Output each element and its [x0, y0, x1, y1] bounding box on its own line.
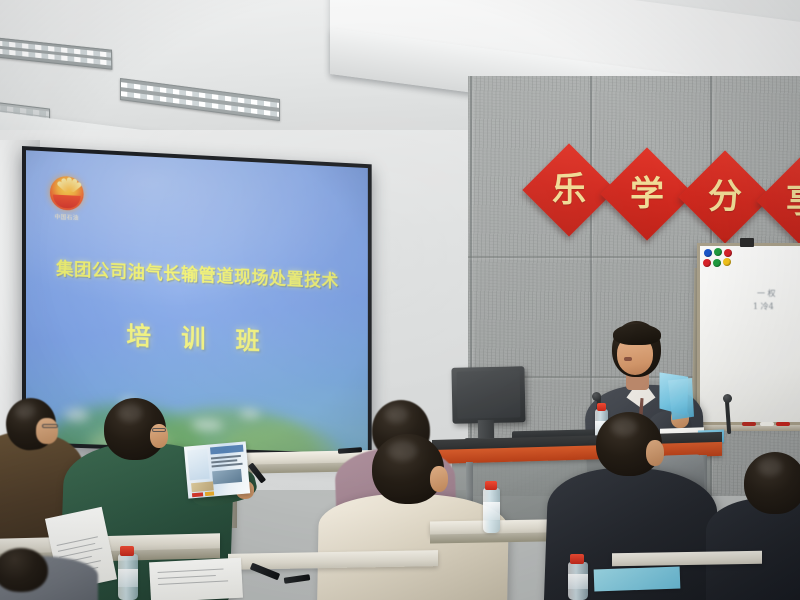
attendee-face	[36, 418, 58, 444]
whiteboard: 一 权 1 冷4	[697, 243, 800, 425]
blue-handout	[594, 567, 681, 592]
marker-white	[760, 422, 774, 426]
cloud-wisp	[240, 409, 260, 418]
attendee-head	[744, 452, 800, 514]
bottle-cap	[597, 403, 606, 411]
projection-screen: 中国石油 集团公司油气长输管道现场处置技术 培 训 班	[22, 146, 372, 458]
brochure	[184, 441, 250, 498]
attendee-jacket	[317, 492, 509, 600]
microphone-icon	[592, 392, 601, 401]
presenter-handout	[668, 378, 694, 420]
presenter-mouth	[624, 357, 632, 361]
petrochina-sun-icon	[50, 175, 84, 211]
table-right	[612, 551, 762, 567]
pen	[284, 574, 311, 584]
attendee-ear	[646, 440, 664, 466]
attendee-head	[0, 548, 48, 592]
microphone-icon	[723, 394, 732, 403]
attendee-suit	[706, 498, 800, 600]
magnet-blue	[704, 249, 712, 257]
magnet-green	[713, 259, 721, 267]
bottle-cap	[570, 554, 584, 564]
bottle-cap	[120, 546, 134, 556]
glasses-icon	[42, 424, 58, 428]
placard-char: 学	[630, 177, 664, 211]
whiteboard-note-line-1: 一 权	[757, 288, 776, 299]
placard-char: 乐	[552, 173, 586, 207]
whiteboard-clip	[740, 238, 754, 247]
cloud-wisp	[64, 409, 88, 422]
water-bottle	[483, 488, 500, 533]
magnet-red	[703, 259, 711, 267]
magnet-yellow	[723, 258, 731, 266]
marker-red	[776, 422, 790, 426]
glasses-icon	[152, 428, 166, 432]
marker-red	[742, 422, 756, 426]
presenter-hair	[613, 324, 661, 345]
handout-papers	[149, 558, 243, 600]
monitor-back-panel	[457, 370, 521, 418]
photo-scene: 中国石油 集团公司油气长输管道现场处置技术 培 训 班 乐 学 分 享 一 权 …	[0, 0, 800, 600]
magnet-red	[724, 249, 732, 257]
attendee-ear	[430, 466, 448, 492]
monitor	[451, 366, 525, 424]
petrochina-logo: 中国石油	[46, 175, 88, 222]
water-bottle	[568, 562, 588, 600]
whiteboard-note-line-2: 1 冷4	[753, 301, 774, 312]
placard-char: 分	[708, 180, 742, 214]
placard-char: 享	[786, 184, 800, 218]
bottle-cap	[485, 481, 497, 490]
projected-slide: 中国石油 集团公司油气长输管道现场处置技术 培 训 班	[26, 150, 368, 454]
magnet-green	[714, 248, 722, 256]
water-bottle	[118, 554, 138, 600]
